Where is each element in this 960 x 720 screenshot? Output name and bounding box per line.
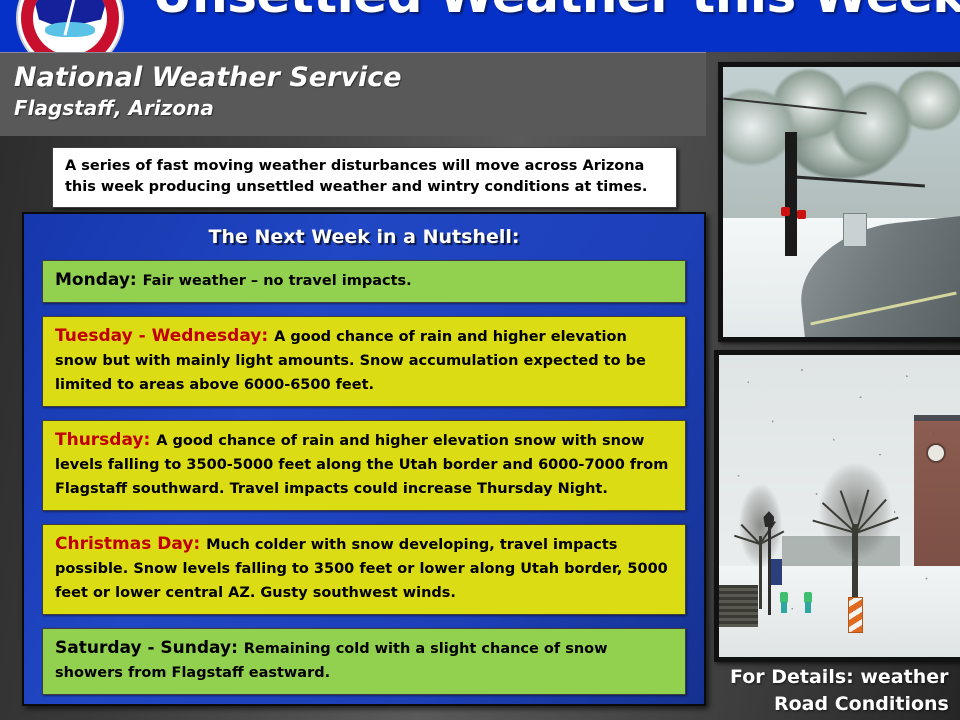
forecast-row-line: Saturday - Sunday: Remaining cold with a… xyxy=(55,637,675,661)
forecast-day-text: Fair weather – no travel impacts. xyxy=(143,273,412,289)
forecast-row-line: limited to areas above 6000-6500 feet. xyxy=(55,373,675,397)
office-identification-band: National Weather Service Flagstaff, Ariz… xyxy=(0,52,706,136)
photo-snowy-downtown xyxy=(714,350,960,662)
forecast-row-tuesday-wednesday: Tuesday - Wednesday: A good chance of ra… xyxy=(42,316,686,407)
details-line-1: For Details: weather xyxy=(730,664,960,691)
forecast-row-line: Monday: Fair weather – no travel impacts… xyxy=(55,269,675,293)
photo-snowy-road xyxy=(718,62,960,342)
forecast-row-line: Tuesday - Wednesday: A good chance of ra… xyxy=(55,325,675,349)
forecast-row-list: Monday: Fair weather – no travel impacts… xyxy=(42,260,686,695)
forecast-day-text: A good chance of rain and higher elevati… xyxy=(274,329,627,345)
summary-callout: A series of fast moving weather disturba… xyxy=(52,147,677,208)
forecast-day-text: showers from Flagstaff eastward. xyxy=(55,665,330,681)
photo-top-utility-box xyxy=(843,213,867,247)
forecast-day-text: snow but with mainly light amounts. Snow… xyxy=(55,353,646,369)
photo-top-canvas xyxy=(723,67,960,337)
photo-top-signal-pole xyxy=(785,132,797,256)
photo-top-signal-light xyxy=(797,210,806,219)
header-banner: ★ ★ ★ Unsettled Weather this Week xyxy=(0,0,960,52)
forecast-day-label: Tuesday - Wednesday: xyxy=(55,326,274,346)
forecast-day-label: Thursday: xyxy=(55,430,156,450)
forecast-day-text: limited to areas above 6000-6500 feet. xyxy=(55,377,374,393)
forecast-row-line: showers from Flagstaff eastward. xyxy=(55,661,675,685)
forecast-day-text: feet or lower central AZ. Gusty southwes… xyxy=(55,585,456,601)
summary-line-2: this week producing unsettled weather an… xyxy=(65,177,664,198)
photo-bottom-falling-snow xyxy=(719,355,960,657)
forecast-row-monday: Monday: Fair weather – no travel impacts… xyxy=(42,260,686,303)
forecast-row-line: Thursday: A good chance of rain and high… xyxy=(55,429,675,453)
logo-water-shape xyxy=(45,22,95,37)
photo-top-signal-light xyxy=(781,207,790,216)
forecast-row-line: snow but with mainly light amounts. Snow… xyxy=(55,349,675,373)
forecast-day-text: levels falling to 3500-5000 feet along t… xyxy=(55,457,668,473)
forecast-row-line: Christmas Day: Much colder with snow dev… xyxy=(55,533,675,557)
office-location: Flagstaff, Arizona xyxy=(14,95,706,121)
nutshell-panel: The Next Week in a Nutshell: Monday: Fai… xyxy=(22,212,706,706)
photo-top-trees xyxy=(723,67,960,234)
forecast-row-line: Flagstaff southward. Travel impacts coul… xyxy=(55,477,675,501)
summary-line-1: A series of fast moving weather disturba… xyxy=(65,156,664,177)
forecast-row-line: levels falling to 3500-5000 feet along t… xyxy=(55,453,675,477)
forecast-row-line: feet or lower central AZ. Gusty southwes… xyxy=(55,581,675,605)
forecast-day-text: Flagstaff southward. Travel impacts coul… xyxy=(55,481,608,497)
details-line-2: Road Conditions xyxy=(730,691,960,718)
forecast-row-line: possible. Snow levels falling to 3500 fe… xyxy=(55,557,675,581)
forecast-day-label: Christmas Day: xyxy=(55,534,206,554)
summary-text: A series of fast moving weather disturba… xyxy=(65,156,664,198)
page-title: Unsettled Weather this Week xyxy=(152,0,960,24)
nutshell-heading: The Next Week in a Nutshell: xyxy=(42,224,686,250)
forecast-row-thursday: Thursday: A good chance of rain and high… xyxy=(42,420,686,511)
forecast-day-text: Much colder with snow developing, travel… xyxy=(206,537,617,553)
weather-briefing-slide: ★ ★ ★ Unsettled Weather this Week Nation… xyxy=(0,0,960,720)
forecast-day-text: A good chance of rain and higher elevati… xyxy=(156,433,644,449)
logo-inner-disc xyxy=(33,0,107,52)
nws-roundel-logo: ★ ★ ★ xyxy=(18,0,122,52)
forecast-day-label: Saturday - Sunday: xyxy=(55,638,244,658)
forecast-row-saturday-sunday: Saturday - Sunday: Remaining cold with a… xyxy=(42,628,686,695)
forecast-day-text: possible. Snow levels falling to 3500 fe… xyxy=(55,561,668,577)
forecast-day-label: Monday: xyxy=(55,270,143,290)
office-name: National Weather Service xyxy=(14,61,706,95)
details-footer: For Details: weather Road Conditions xyxy=(730,664,960,718)
photo-bottom-canvas xyxy=(719,355,960,657)
forecast-row-christmas-day: Christmas Day: Much colder with snow dev… xyxy=(42,524,686,615)
forecast-day-text: Remaining cold with a slight chance of s… xyxy=(244,641,608,657)
